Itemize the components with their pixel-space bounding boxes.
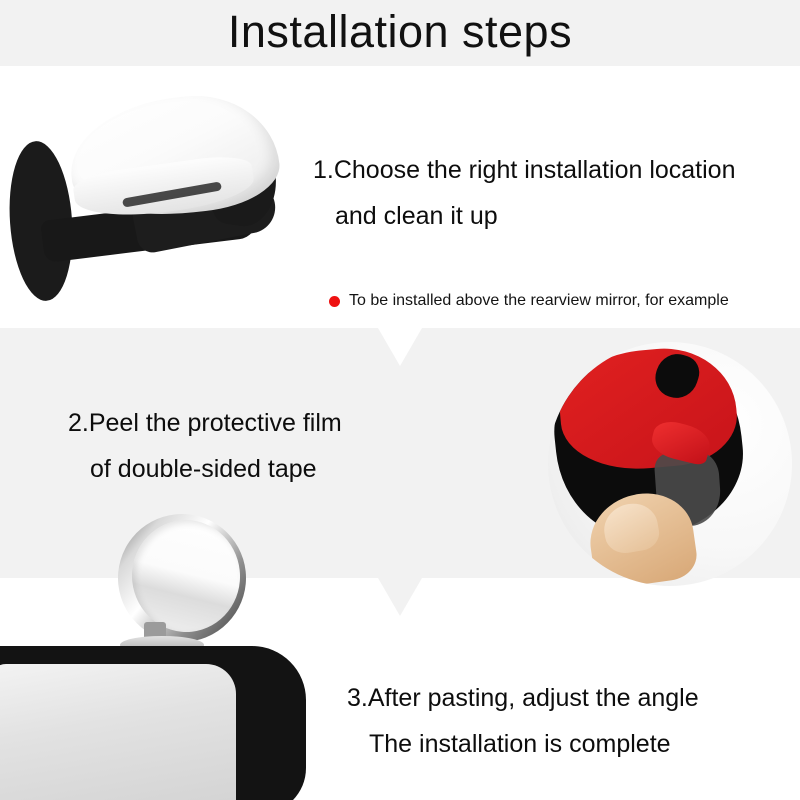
side-mirror-glass	[0, 664, 236, 800]
step-1-image-car-side-mirror	[4, 86, 294, 314]
page-title: Installation steps	[0, 4, 800, 60]
chevron-down-icon-divider-2	[378, 578, 422, 616]
step-3-line-2: The installation is complete	[347, 721, 699, 767]
chevron-down-icon-divider-1	[378, 328, 422, 366]
step-2-image-tape-peel	[548, 342, 792, 586]
step-1-line-1: 1.Choose the right installation location	[313, 147, 736, 193]
step-3-line-1: 3.After pasting, adjust the angle	[347, 675, 699, 721]
step-2-line-1: 2.Peel the protective film	[68, 400, 342, 446]
step-3-text: 3.After pasting, adjust the angle The in…	[347, 675, 699, 767]
step-3-image-mounted-mirror	[0, 512, 312, 800]
step-1-note-label: To be installed above the rearview mirro…	[349, 292, 729, 310]
installation-steps-page: Installation steps 1.Choose the right in…	[0, 0, 800, 800]
red-dot-icon	[329, 296, 340, 307]
step-2-text: 2.Peel the protective film of double-sid…	[68, 400, 342, 492]
step-2-line-2: of double-sided tape	[68, 446, 342, 492]
step-1-text: 1.Choose the right installation location…	[313, 147, 736, 239]
step-1-note: To be installed above the rearview mirro…	[329, 292, 729, 310]
step-1-line-2: and clean it up	[313, 193, 736, 239]
